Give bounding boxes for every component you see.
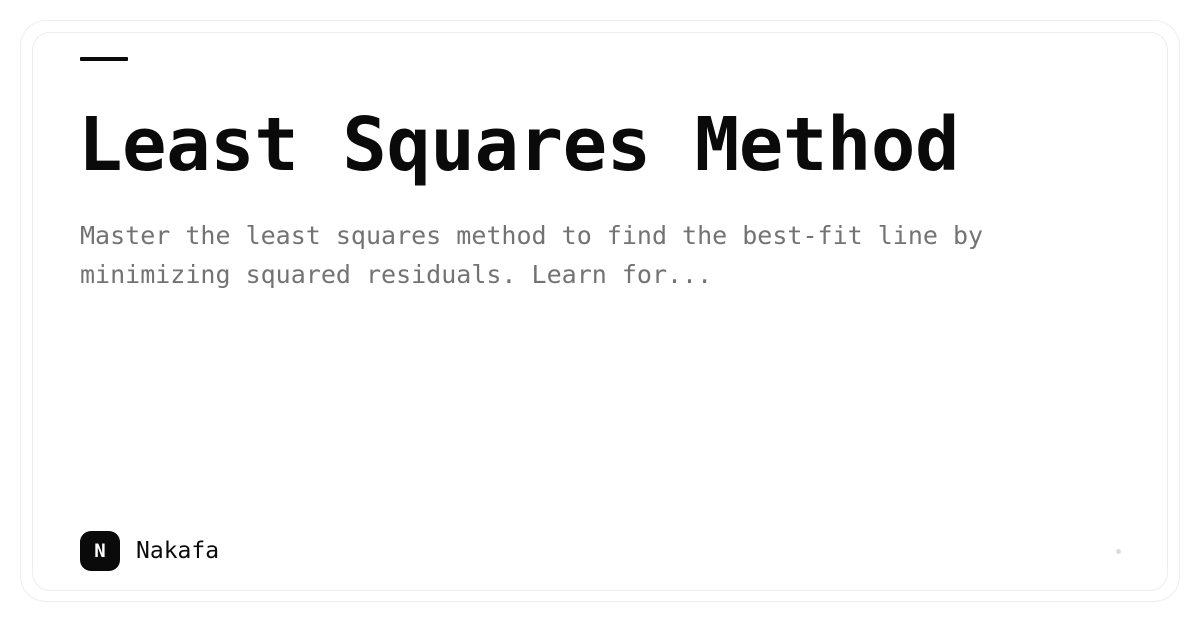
page-title: Least Squares Method (78, 100, 1118, 190)
accent-rule-divider (80, 57, 128, 61)
nakafa-logo-icon: N (80, 531, 120, 571)
page-subtitle: Master the least squares method to find … (80, 216, 1100, 294)
og-card-content: Least Squares Method Master the least sq… (0, 0, 1200, 630)
brand-name-label: Nakafa (136, 538, 219, 564)
status-dot-icon (1116, 549, 1121, 554)
brand-lockup: N Nakafa (80, 531, 219, 571)
card-footer: N Nakafa (80, 528, 1122, 574)
